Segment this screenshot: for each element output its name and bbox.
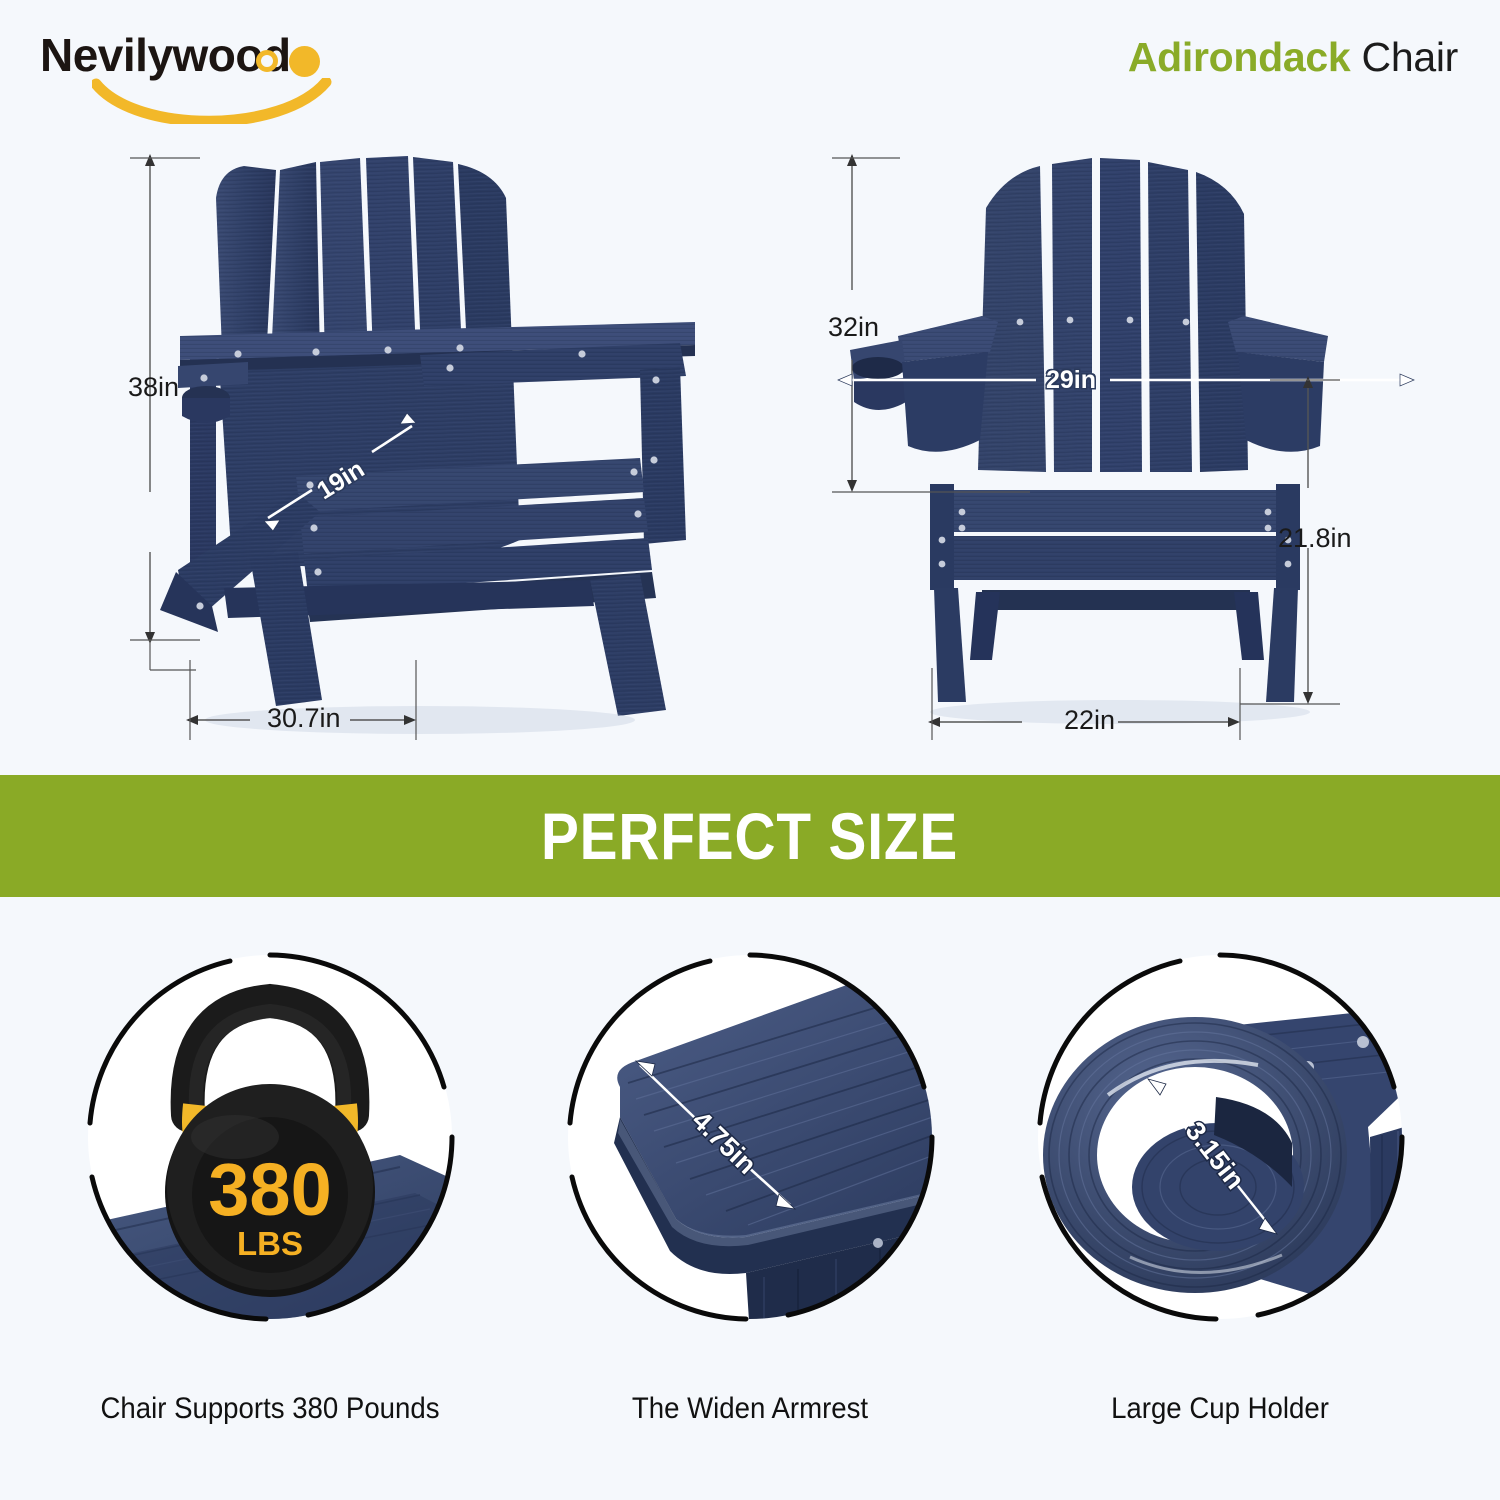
- dim-front-back-height: 32in: [828, 312, 879, 343]
- page-title-brand: Adirondack: [1128, 34, 1351, 80]
- weight-unit: LBS: [237, 1225, 303, 1262]
- smile-swoosh-icon: [92, 78, 332, 124]
- page-title: Adirondack Chair: [1128, 34, 1458, 81]
- feature-card-weight-capacity: 380 LBS Chair Supports 380 Pounds: [50, 937, 490, 1497]
- dim-front-seat-height: 21.8in: [1278, 523, 1352, 554]
- feature-caption-armrest: The Widen Armrest: [548, 1392, 953, 1426]
- header: Nevilywood Adirondack Chair: [0, 0, 1500, 140]
- feature-caption-weight: Chair Supports 380 Pounds: [68, 1392, 473, 1426]
- product-infographic: Nevilywood Adirondack Chair: [0, 0, 1500, 1500]
- dim-side-height: 38in: [128, 372, 179, 403]
- dimension-section: 38in 30.7in 19in: [0, 140, 1500, 775]
- perfect-size-banner: PERFECT SIZE: [0, 775, 1500, 897]
- front-view-dimension-lines: [800, 140, 1500, 760]
- side-view-dimension-lines: [0, 140, 760, 760]
- banner-title: PERFECT SIZE: [541, 798, 958, 874]
- cup-holder-icon: 3.15in: [1020, 937, 1420, 1337]
- feature-caption-cup-holder: Large Cup Holder: [1018, 1392, 1423, 1426]
- brand-logo-text: Nevilywood: [40, 32, 291, 78]
- feature-card-armrest: 4.75in The Widen Armrest: [530, 937, 970, 1497]
- dim-side-depth: 30.7in: [267, 703, 341, 734]
- feature-section: 380 LBS Chair Supports 380 Pounds: [0, 897, 1500, 1500]
- feature-card-cup-holder: 3.15in Large Cup Holder: [1000, 937, 1440, 1497]
- brand-logo: Nevilywood: [40, 26, 370, 116]
- weight-number: 380: [208, 1148, 331, 1231]
- dim-front-width: 22in: [1064, 705, 1115, 736]
- armrest-icon: 4.75in: [550, 937, 950, 1337]
- logo-dot-icon: [289, 46, 320, 77]
- page-title-product: Chair: [1362, 34, 1458, 80]
- kettlebell-icon: 380 LBS: [70, 937, 470, 1337]
- dim-front-arm-width: 29in: [1046, 366, 1096, 395]
- logo-ring-icon: [256, 50, 278, 72]
